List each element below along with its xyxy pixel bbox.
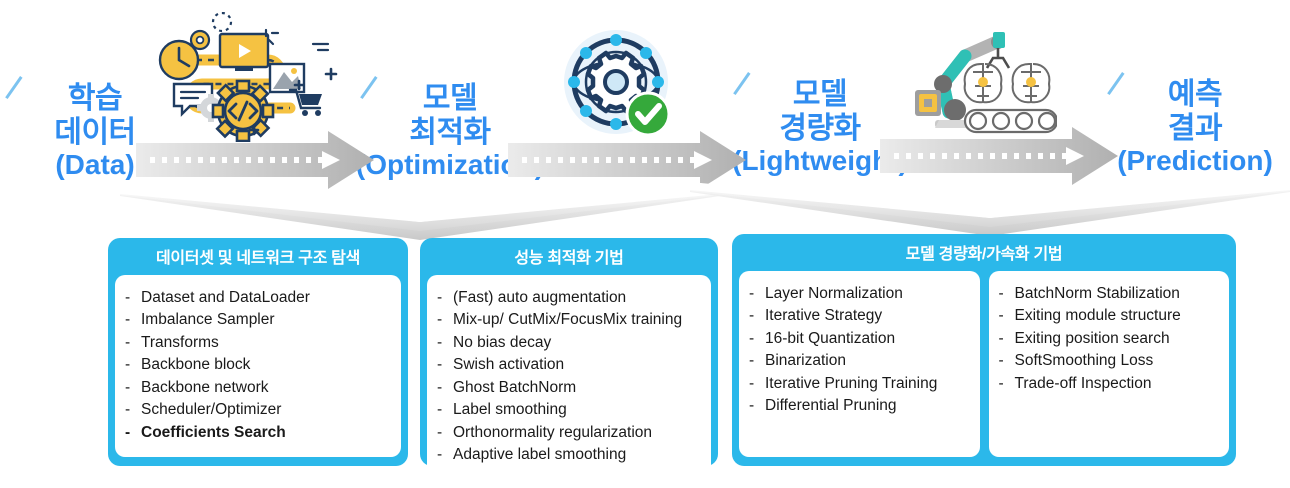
- bullet-dash-icon: -: [437, 309, 453, 331]
- list-item-label: Iterative Pruning Training: [765, 373, 937, 395]
- panel-performance-optimization[interactable]: 성능 최적화 기법 -(Fast) auto augmentation -Mix…: [420, 238, 718, 466]
- list-item: -Binarization: [749, 350, 970, 372]
- list-item-label: BatchNorm Stabilization: [1015, 283, 1180, 305]
- panel-lightweight-acceleration[interactable]: 모델 경량화/가속화 기법 -Layer Normalization -Iter…: [732, 234, 1236, 466]
- list-item: -Backbone block: [125, 354, 391, 376]
- list-item-label: Mix-up/ CutMix/FocusMix training: [453, 309, 682, 331]
- list-item-label: Adaptive label smoothing: [453, 444, 626, 466]
- bullet-dash-icon: -: [437, 399, 453, 421]
- bullet-dash-icon: -: [437, 377, 453, 399]
- list-item-label: Differential Pruning: [765, 395, 897, 417]
- list-item-label: SoftSmoothing Loss: [1015, 350, 1154, 372]
- list-item-label: Swish activation: [453, 354, 564, 376]
- list-item-label: Imbalance Sampler: [141, 309, 275, 331]
- list-item-label: Scheduler/Optimizer: [141, 399, 281, 421]
- list-item-label: 16-bit Quantization: [765, 328, 895, 350]
- bullet-dash-icon: -: [437, 332, 453, 354]
- bullet-dash-icon: -: [125, 309, 141, 331]
- list-item-label: No bias decay: [453, 332, 551, 354]
- bullet-list: -Dataset and DataLoader -Imbalance Sampl…: [125, 287, 391, 444]
- bullet-dash-icon: -: [437, 444, 453, 466]
- list-item-label: (Fast) auto augmentation: [453, 287, 626, 309]
- list-item-label: Exiting position search: [1015, 328, 1170, 350]
- bullet-dash-icon: -: [999, 305, 1015, 327]
- bullet-dash-icon: -: [437, 422, 453, 444]
- panel-title: 성능 최적화 기법: [427, 245, 711, 275]
- bullet-dash-icon: -: [749, 305, 765, 327]
- bullet-dash-icon: -: [999, 350, 1015, 372]
- bullet-dash-icon: -: [437, 354, 453, 376]
- panel-card: -(Fast) auto augmentation -Mix-up/ CutMi…: [427, 275, 711, 477]
- list-item: -Transforms: [125, 332, 391, 354]
- list-item-label: Orthonormality regularization: [453, 422, 652, 444]
- list-item: -Layer Normalization: [749, 283, 970, 305]
- list-item-label: Backbone block: [141, 354, 250, 376]
- bullet-dash-icon: -: [999, 373, 1015, 395]
- list-item: -Differential Pruning: [749, 395, 970, 417]
- bullet-dash-icon: -: [125, 399, 141, 421]
- bullet-dash-icon: -: [999, 283, 1015, 305]
- list-item: -BatchNorm Stabilization: [999, 283, 1220, 305]
- list-item-label: Coefficients Search: [141, 422, 286, 444]
- list-item: -SoftSmoothing Loss: [999, 350, 1220, 372]
- flow-arrow-1: [136, 131, 374, 189]
- list-item-label: Backbone network: [141, 377, 269, 399]
- flow-arrow-2: [508, 131, 746, 189]
- optimization-gear-icon: [560, 28, 672, 140]
- list-item: -16-bit Quantization: [749, 328, 970, 350]
- bullet-dash-icon: -: [999, 328, 1015, 350]
- list-item-label: Exiting module structure: [1015, 305, 1181, 327]
- stage-title-prediction: 예측 결과 (Prediction): [1102, 78, 1288, 177]
- list-item: -Adaptive label smoothing: [437, 444, 701, 466]
- list-item: -Coefficients Search: [125, 422, 391, 444]
- list-item: -Ghost BatchNorm: [437, 377, 701, 399]
- bullet-dash-icon: -: [437, 287, 453, 309]
- panel-title: 모델 경량화/가속화 기법: [739, 241, 1229, 271]
- list-item-label: Trade-off Inspection: [1015, 373, 1152, 395]
- diagram-canvas: 학습 데이터 (Data) 모델 최적화 (Optimization) 모델 경…: [0, 0, 1290, 488]
- list-item: -Mix-up/ CutMix/FocusMix training: [437, 309, 701, 331]
- bullet-list: -Layer Normalization -Iterative Strategy…: [749, 283, 970, 418]
- bullet-dash-icon: -: [749, 350, 765, 372]
- list-item: -Swish activation: [437, 354, 701, 376]
- list-item: -Backbone network: [125, 377, 391, 399]
- bullet-dash-icon: -: [749, 328, 765, 350]
- list-item-label: Dataset and DataLoader: [141, 287, 310, 309]
- flow-arrow-3: [880, 127, 1118, 185]
- bullet-dash-icon: -: [125, 354, 141, 376]
- list-item: -Label smoothing: [437, 399, 701, 421]
- bullet-list: -(Fast) auto augmentation -Mix-up/ CutMi…: [437, 287, 701, 467]
- bullet-dash-icon: -: [125, 377, 141, 399]
- list-item-label: Iterative Strategy: [765, 305, 882, 327]
- panel-card: -BatchNorm Stabilization -Exiting module…: [989, 271, 1230, 457]
- list-item: -Iterative Strategy: [749, 305, 970, 327]
- list-item: -Iterative Pruning Training: [749, 373, 970, 395]
- panel-title: 데이터셋 및 네트워크 구조 탐색: [115, 245, 401, 275]
- bullet-list: -BatchNorm Stabilization -Exiting module…: [999, 283, 1220, 395]
- bullet-dash-icon: -: [125, 332, 141, 354]
- list-item: -Orthonormality regularization: [437, 422, 701, 444]
- list-item: -Exiting module structure: [999, 305, 1220, 327]
- stage-title-ko-line2: 결과: [1102, 112, 1288, 146]
- list-item: -Trade-off Inspection: [999, 373, 1220, 395]
- stage-title-ko-line1: 학습: [20, 82, 170, 116]
- panel-dataset-network-search[interactable]: 데이터셋 및 네트워크 구조 탐색 -Dataset and DataLoade…: [108, 238, 408, 466]
- bullet-dash-icon: -: [125, 287, 141, 309]
- lightweight-robot-icon: [905, 28, 1057, 140]
- stage-title-ko-line1: 모델: [722, 78, 918, 112]
- stage-title-en: (Prediction): [1102, 145, 1288, 176]
- panel-body: -Layer Normalization -Iterative Strategy…: [739, 271, 1229, 457]
- bullet-dash-icon: -: [125, 422, 141, 444]
- list-item-label: Ghost BatchNorm: [453, 377, 576, 399]
- data-pipeline-icon: [150, 12, 340, 142]
- list-item: -(Fast) auto augmentation: [437, 287, 701, 309]
- list-item: -No bias decay: [437, 332, 701, 354]
- panel-body: -(Fast) auto augmentation -Mix-up/ CutMi…: [427, 275, 711, 477]
- stage-title-ko-line1: 예측: [1102, 78, 1288, 112]
- list-item-label: Transforms: [141, 332, 219, 354]
- panel-body: -Dataset and DataLoader -Imbalance Sampl…: [115, 275, 401, 457]
- ribbon-chevron-left: [120, 186, 720, 242]
- list-item: -Imbalance Sampler: [125, 309, 391, 331]
- ribbon-chevron-right: [690, 182, 1290, 238]
- bullet-dash-icon: -: [749, 283, 765, 305]
- panel-card: -Dataset and DataLoader -Imbalance Sampl…: [115, 275, 401, 457]
- panel-card: -Layer Normalization -Iterative Strategy…: [739, 271, 980, 457]
- list-item-label: Layer Normalization: [765, 283, 903, 305]
- list-item: -Scheduler/Optimizer: [125, 399, 391, 421]
- list-item: -Exiting position search: [999, 328, 1220, 350]
- bullet-dash-icon: -: [749, 373, 765, 395]
- bullet-dash-icon: -: [749, 395, 765, 417]
- list-item: -Dataset and DataLoader: [125, 287, 391, 309]
- stage-title-ko-line1: 모델: [352, 82, 548, 116]
- list-item-label: Binarization: [765, 350, 846, 372]
- list-item-label: Label smoothing: [453, 399, 567, 421]
